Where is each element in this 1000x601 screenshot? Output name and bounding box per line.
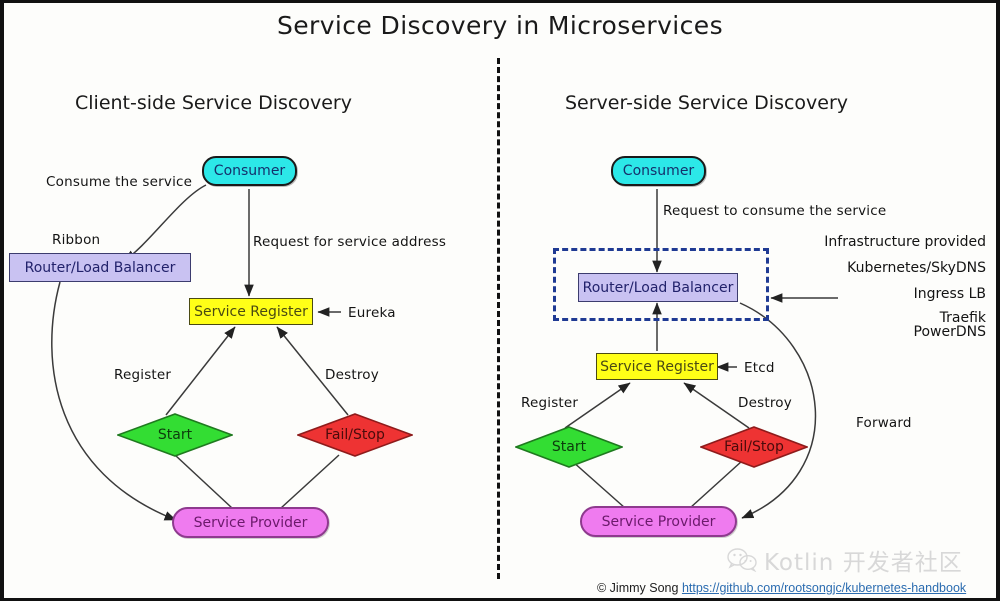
right-router-label: Router/Load Balancer xyxy=(583,280,734,296)
infrastructure-note-line-3: Ingress LB xyxy=(726,286,986,302)
right-service-register-label: Service Register xyxy=(600,359,714,375)
watermark: Kotlin 开发者社区 xyxy=(727,543,963,577)
infrastructure-note-line-5: PowerDNS xyxy=(726,324,986,340)
left-edge-label-destroy: Destroy xyxy=(325,367,379,383)
right-start-node[interactable]: Start xyxy=(515,426,623,468)
right-fail-stop-label: Fail/Stop xyxy=(724,439,784,455)
left-start-node[interactable]: Start xyxy=(117,413,233,457)
left-service-register-label: Service Register xyxy=(194,304,308,320)
infrastructure-note-line-2: Kubernetes/SkyDNS xyxy=(726,260,986,276)
right-fail-stop-node[interactable]: Fail/Stop xyxy=(700,426,808,468)
left-start-label: Start xyxy=(158,427,192,443)
right-service-provider-node[interactable]: Service Provider xyxy=(580,506,737,537)
left-service-register-node[interactable]: Service Register xyxy=(189,298,313,325)
right-service-provider-label: Service Provider xyxy=(602,514,716,530)
left-service-provider-label: Service Provider xyxy=(194,515,308,531)
right-consumer-node[interactable]: Consumer xyxy=(611,156,706,186)
left-router-node[interactable]: Router/Load Balancer xyxy=(9,253,191,282)
left-consumer-node[interactable]: Consumer xyxy=(202,156,297,186)
right-edge-label-forward: Forward xyxy=(856,415,912,431)
diagram-canvas: Service Discovery in Microservices Clien… xyxy=(0,0,1000,601)
left-edge-label-eureka: Eureka xyxy=(348,305,396,321)
frame-border-right xyxy=(996,3,1000,601)
right-router-node[interactable]: Router/Load Balancer xyxy=(578,273,738,302)
right-panel-heading: Server-side Service Discovery xyxy=(565,92,848,114)
wechat-icon xyxy=(727,548,757,572)
right-service-register-node[interactable]: Service Register xyxy=(596,353,718,380)
watermark-text: Kotlin 开发者社区 xyxy=(764,543,963,577)
right-edge-label-etcd: Etcd xyxy=(744,360,775,376)
left-edge-label-ribbon: Ribbon xyxy=(52,232,100,248)
right-edge-label-register: Register xyxy=(521,395,578,411)
credit-line: © Jimmy Song https://github.com/rootsong… xyxy=(597,581,966,595)
infrastructure-note-line-1: Infrastructure provided xyxy=(726,234,986,250)
right-consumer-label: Consumer xyxy=(623,163,694,179)
frame-border-left xyxy=(0,3,4,601)
right-start-label: Start xyxy=(552,439,586,455)
credit-author: © Jimmy Song xyxy=(597,581,678,595)
diagram-title: Service Discovery in Microservices xyxy=(0,11,1000,40)
credit-link[interactable]: https://github.com/rootsongjc/kubernetes… xyxy=(682,581,966,595)
left-router-label: Router/Load Balancer xyxy=(25,260,176,276)
panel-divider xyxy=(497,58,500,579)
left-edge-label-consume: Consume the service xyxy=(46,174,192,190)
left-consumer-label: Consumer xyxy=(214,163,285,179)
left-service-provider-node[interactable]: Service Provider xyxy=(172,507,329,538)
left-edge-label-request: Request for service address xyxy=(253,234,446,250)
right-edge-label-destroy: Destroy xyxy=(738,395,792,411)
right-edge-label-request: Request to consume the service xyxy=(663,203,886,219)
left-panel-heading: Client-side Service Discovery xyxy=(75,92,352,114)
left-fail-stop-label: Fail/Stop xyxy=(325,427,385,443)
left-edge-label-register: Register xyxy=(114,367,171,383)
left-fail-stop-node[interactable]: Fail/Stop xyxy=(297,413,413,457)
